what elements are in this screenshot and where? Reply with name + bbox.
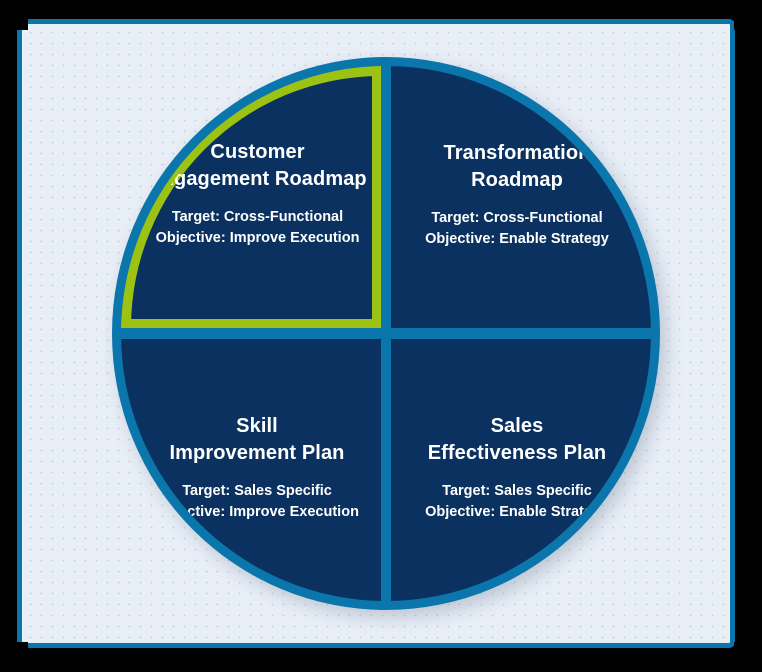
quadrant-wheel: Customer Engagement Roadmap Target: Cros…: [112, 57, 660, 610]
quadrant-title-line-2: Engagement Roadmap: [148, 168, 367, 190]
quadrant-target: Target: Cross-Functional: [172, 209, 343, 225]
quadrant-objective: Objective: Enable Strategy: [425, 504, 609, 520]
quadrant-title: Transformation Roadmap: [417, 140, 617, 194]
quadrant-title-line-1: Skill: [236, 415, 278, 437]
quadrant-target: Target: Cross-Functional: [431, 210, 602, 226]
quadrant-title-line-1: Transformation: [444, 142, 591, 164]
quadrant-title: Sales Effectiveness Plan: [417, 413, 617, 467]
diagram-frame: Customer Engagement Roadmap Target: Cros…: [17, 19, 735, 648]
frame-corner-bottom-left: [14, 642, 28, 656]
quadrant-objective: Objective: Improve Execution: [156, 230, 360, 246]
quadrant-body: Customer Engagement Roadmap Target: Cros…: [138, 139, 377, 249]
quadrant-transformation-roadmap[interactable]: Transformation Roadmap Target: Cross-Fun…: [391, 66, 651, 328]
quadrant-title: Skill Improvement Plan: [147, 413, 367, 467]
frame-corner-top-left: [14, 16, 28, 30]
frame-corner-bottom-right: [734, 642, 748, 656]
quadrant-title-line-1: Customer: [210, 141, 304, 163]
quadrant-title: Customer Engagement Roadmap: [138, 139, 377, 193]
quadrant-title-line-2: Effectiveness Plan: [428, 442, 607, 464]
quadrant-target: Target: Sales Specific: [182, 483, 332, 499]
frame-corner-top-right: [734, 16, 748, 30]
quadrant-body: Sales Effectiveness Plan Target: Sales S…: [417, 413, 617, 523]
quadrant-title-line-1: Sales: [491, 415, 544, 437]
quadrant-subtitle: Target: Sales Specific Objective: Improv…: [147, 481, 367, 523]
quadrant-subtitle: Target: Cross-Functional Objective: Enab…: [417, 208, 617, 250]
quadrant-sales-effectiveness-plan[interactable]: Sales Effectiveness Plan Target: Sales S…: [391, 339, 651, 601]
quadrant-skill-improvement-plan[interactable]: Skill Improvement Plan Target: Sales Spe…: [121, 339, 381, 601]
screenshot-stage: Customer Engagement Roadmap Target: Cros…: [0, 0, 762, 672]
quadrant-body: Transformation Roadmap Target: Cross-Fun…: [417, 140, 617, 250]
quadrant-target: Target: Sales Specific: [442, 483, 592, 499]
quadrant-title-line-2: Improvement Plan: [170, 442, 345, 464]
wheel-disc: Customer Engagement Roadmap Target: Cros…: [121, 66, 651, 601]
quadrant-objective: Objective: Enable Strategy: [425, 231, 609, 247]
quadrant-body: Skill Improvement Plan Target: Sales Spe…: [147, 413, 367, 523]
quadrant-subtitle: Target: Cross-Functional Objective: Impr…: [138, 207, 377, 249]
quadrant-title-line-2: Roadmap: [471, 169, 563, 191]
quadrant-objective: Objective: Improve Execution: [155, 504, 359, 520]
quadrant-customer-engagement-roadmap[interactable]: Customer Engagement Roadmap Target: Cros…: [121, 66, 381, 328]
quadrant-subtitle: Target: Sales Specific Objective: Enable…: [417, 481, 617, 523]
